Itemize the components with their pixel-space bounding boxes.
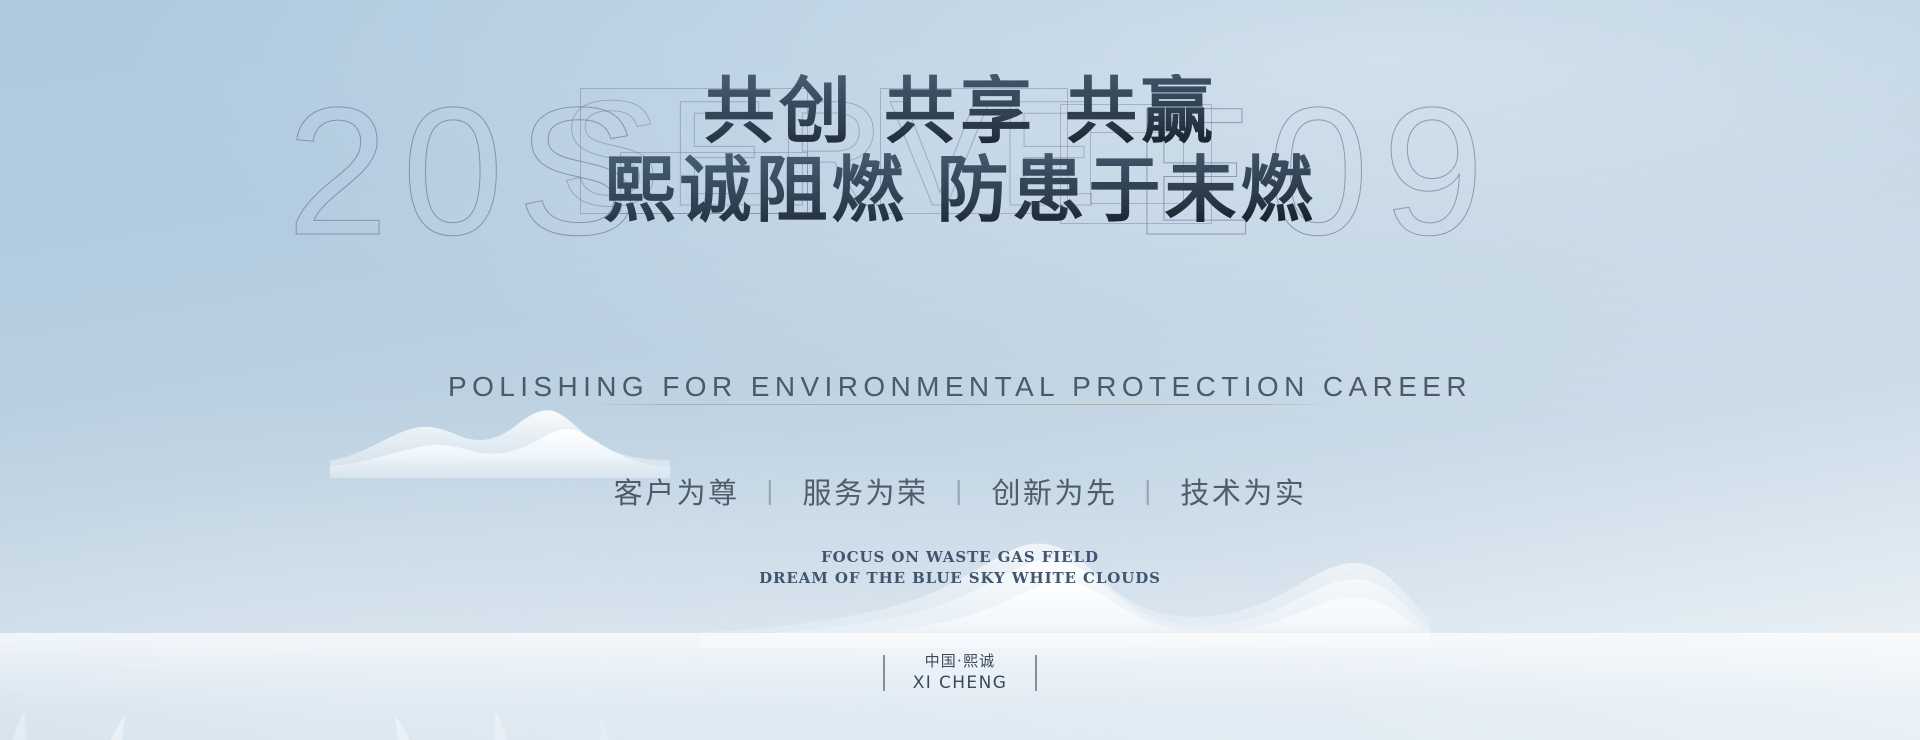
value-separator: | [929,476,992,505]
serif-subtitle-line-2: DREAM OF THE BLUE SKY WHITE CLOUDS [0,568,1920,589]
values-row: 客户为尊 | 服务为荣 | 创新为先 | 技术为实 [0,470,1920,512]
ghost-rectangle [1060,104,1212,224]
background-sheen [0,0,1920,740]
signature-text: 中国·熙诚 XI CHENG [913,650,1008,696]
headline-line-1: 共创 共享 共赢 [0,74,1920,147]
ghost-rectangle [880,88,1068,214]
outline-text-middle: SERVE [560,78,1106,228]
outline-text-right: E09 [1132,80,1498,262]
cloud-mountain-left [330,398,670,478]
value-separator: | [1117,476,1180,505]
ghost-rectangle [620,152,808,214]
ghost-rectangle [1090,132,1184,204]
signature-divider-left [883,655,885,691]
outline-text-left: 20S [287,80,653,262]
outline-typography-layer: 20S E09 SERVE [0,0,1920,740]
value-item-3: 创新为先 [991,470,1117,512]
ghost-rectangle [580,88,808,214]
signature-chinese: 中国·熙诚 [913,650,1008,673]
headline-block: 共创 共享 共赢 熙诚阻燃 防患于未燃 [0,74,1920,227]
ring-inner-icon [1490,0,1920,260]
english-tagline: POLISHING FOR ENVIRONMENTAL PROTECTION C… [0,371,1920,403]
signature-divider-right [1035,655,1037,691]
value-separator: | [740,476,803,505]
value-item-4: 技术为实 [1180,470,1306,512]
brand-banner: 20S E09 SERVE 共创 共享 共赢 熙诚阻燃 防患于未燃 POL [0,0,1920,740]
serif-subtitle-block: FOCUS ON WASTE GAS FIELD DREAM OF THE BL… [0,547,1920,590]
ring-outer-icon [1230,0,1920,430]
signature-english: XI CHENG [913,672,1008,696]
value-item-1: 客户为尊 [614,470,740,512]
brand-signature: 中国·熙诚 XI CHENG [0,650,1920,696]
tagline-underline [589,404,1331,405]
ring-middle-icon [1370,0,1920,340]
headline-line-2: 熙诚阻燃 防患于未燃 [0,153,1920,226]
value-item-2: 服务为荣 [803,470,929,512]
serif-subtitle-line-1: FOCUS ON WASTE GAS FIELD [0,547,1920,568]
